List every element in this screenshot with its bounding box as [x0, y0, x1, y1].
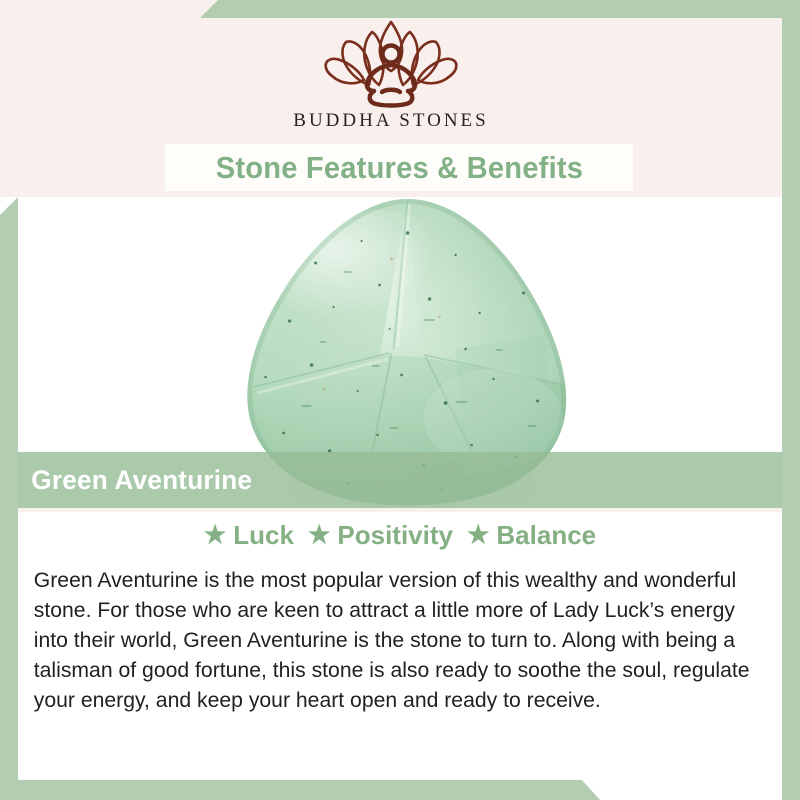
keyword-item-balance: ★ Balance: [467, 520, 596, 551]
stone-name: Green Aventurine: [22, 465, 253, 496]
decorative-band-bottom: [0, 780, 800, 800]
star-icon: ★: [308, 523, 330, 548]
brand-wordmark: BUDDHA STONES: [293, 110, 488, 132]
content-divider: [18, 508, 782, 512]
lotus-meditation-logo-icon: [306, 16, 476, 108]
infographic-card: BUDDHA STONES Stone Features & Benefits: [0, 0, 800, 800]
keyword-label: Positivity: [337, 520, 453, 551]
decorative-band-right: [782, 0, 800, 800]
brand-logo: BUDDHA STONES: [0, 16, 782, 132]
page-title-banner: Stone Features & Benefits: [165, 144, 633, 191]
stone-name-plate: Green Aventurine: [18, 452, 782, 508]
star-icon: ★: [204, 523, 226, 548]
keyword-label: Luck: [233, 520, 294, 551]
keyword-list: ★ Luck ★ Positivity ★ Balance: [18, 508, 782, 551]
keyword-label: Balance: [496, 520, 596, 551]
stone-description: Green Aventurine is the most popular ver…: [18, 551, 771, 715]
content-panel: ★ Luck ★ Positivity ★ Balance Green Aven…: [18, 508, 782, 780]
keyword-item-positivity: ★ Positivity: [308, 520, 453, 551]
keyword-item-luck: ★ Luck: [204, 520, 294, 551]
page-title: Stone Features & Benefits: [215, 150, 582, 186]
star-icon: ★: [467, 523, 489, 548]
